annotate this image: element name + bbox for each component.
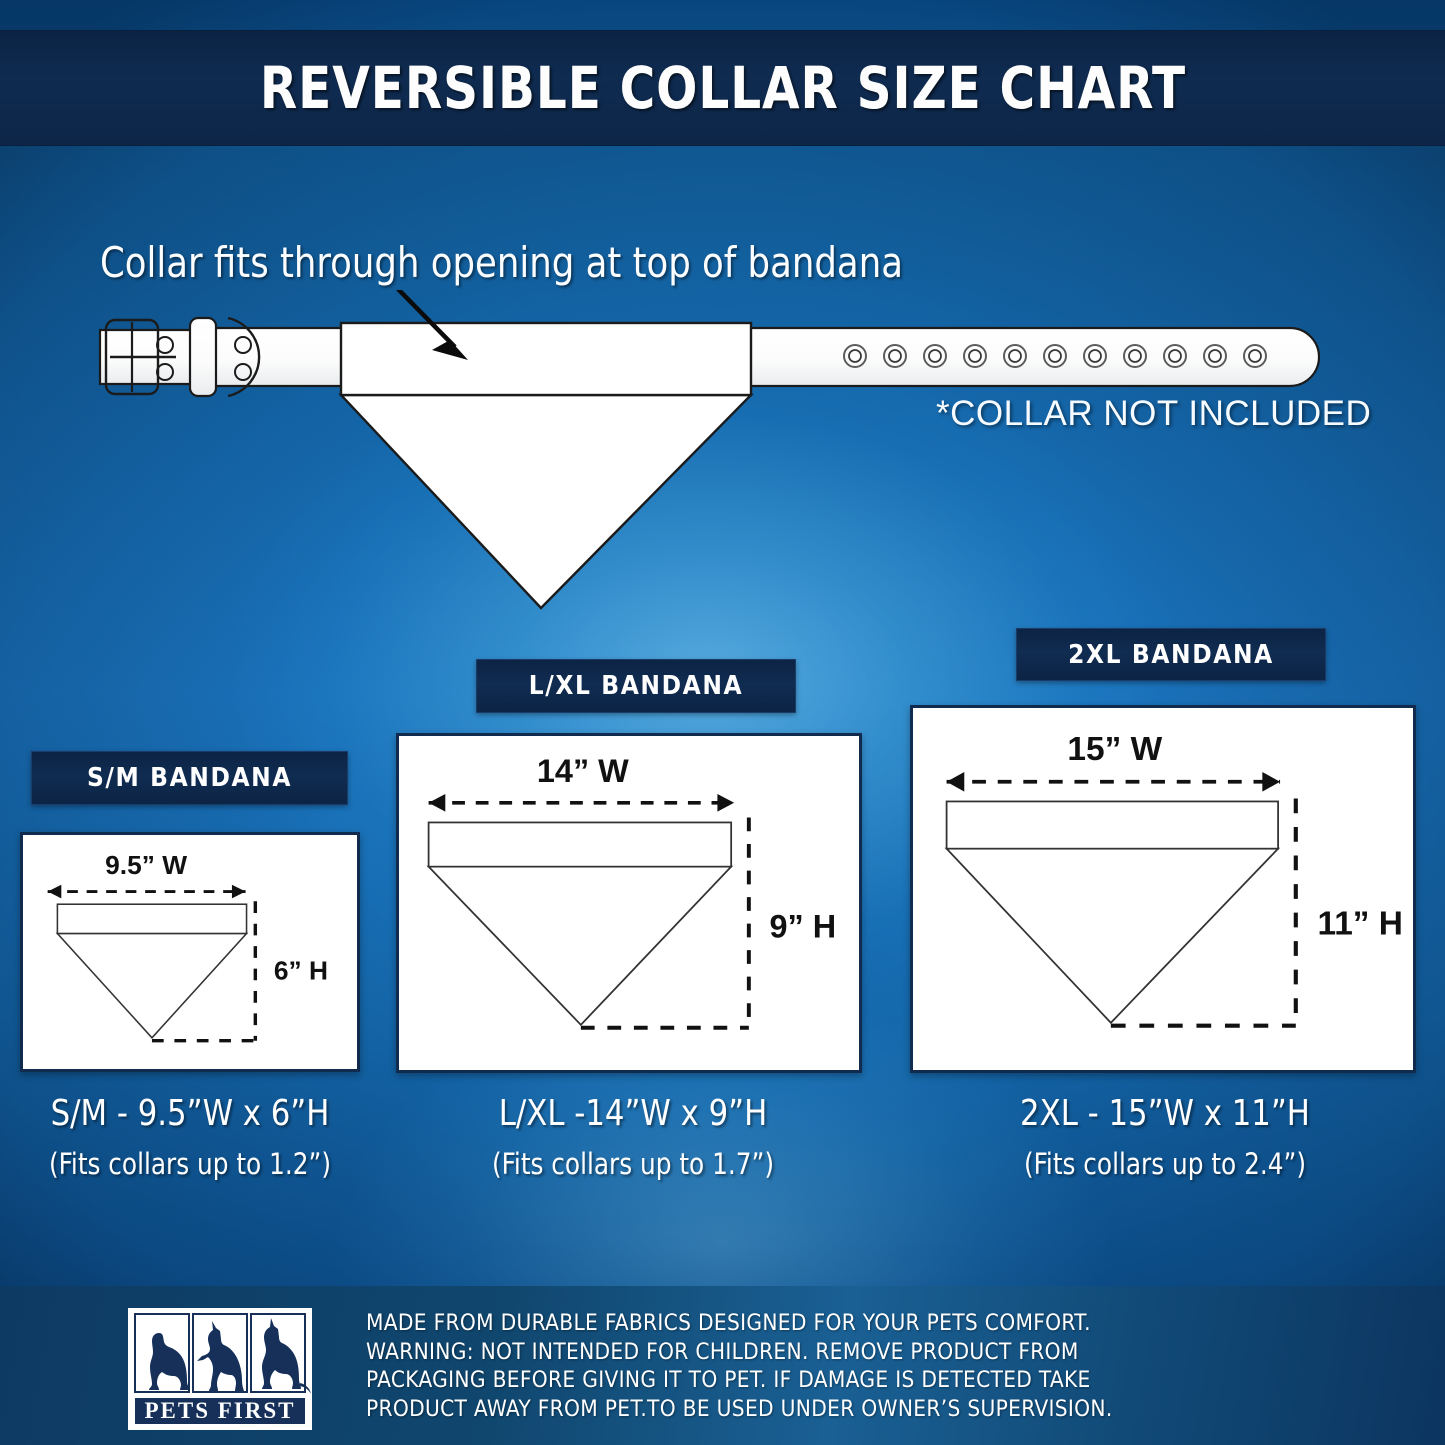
caption-lxl-title: L/XL -14”W x 9”H bbox=[457, 1093, 809, 1134]
bandana-sleeve bbox=[341, 323, 751, 395]
caption-sm-title: S/M - 9.5”W x 6”H bbox=[19, 1093, 361, 1134]
bandana-shape-xxl bbox=[947, 849, 1279, 1023]
caption-xxl-sub: (Fits collars up to 2.4”) bbox=[985, 1147, 1346, 1181]
bandana-sleeve-lxl bbox=[429, 822, 732, 866]
card-xxl: 15” W 11” H bbox=[910, 705, 1416, 1073]
diagram-lxl: 14” W 9” H bbox=[399, 736, 859, 1070]
collar-opening-note: Collar fits through opening at top of ba… bbox=[100, 238, 903, 287]
footer-line-4: PRODUCT AWAY FROM PET.TO BE USED UNDER O… bbox=[366, 1395, 1366, 1424]
caption-xxl: 2XL - 15”W x 11”H (Fits collars up to 2.… bbox=[975, 1093, 1355, 1181]
header-band: REVERSIBLE COLLAR SIZE CHART bbox=[0, 31, 1445, 145]
collar-not-included-note: *COLLAR NOT INCLUDED bbox=[936, 394, 1371, 434]
footer-line-3: PACKAGING BEFORE GIVING IT TO PET. IF DA… bbox=[366, 1366, 1366, 1395]
footer-disclaimer: MADE FROM DURABLE FABRICS DESIGNED FOR Y… bbox=[366, 1309, 1366, 1423]
badge-lxl-label: L/XL BANDANA bbox=[529, 671, 743, 701]
caption-lxl: L/XL -14”W x 9”H (Fits collars up to 1.7… bbox=[448, 1093, 818, 1181]
card-lxl: 14” W 9” H bbox=[396, 733, 862, 1073]
bandana-sleeve-sm bbox=[57, 904, 246, 933]
width-label-xxl: 15” W bbox=[1067, 731, 1162, 768]
width-label-sm: 9.5” W bbox=[105, 850, 187, 880]
bandana-triangle bbox=[341, 395, 751, 608]
page-title: REVERSIBLE COLLAR SIZE CHART bbox=[259, 54, 1185, 122]
pets-first-logo: PETS FIRST bbox=[128, 1308, 312, 1430]
badge-xxl: 2XL BANDANA bbox=[1016, 628, 1326, 681]
width-dimension-xxl bbox=[947, 772, 1280, 792]
caption-sm-sub: (Fits collars up to 1.2”) bbox=[19, 1147, 361, 1181]
caption-sm: S/M - 9.5”W x 6”H (Fits collars up to 1.… bbox=[10, 1093, 370, 1181]
height-label-lxl: 9” H bbox=[769, 908, 836, 944]
footer-line-2: WARNING: NOT INTENDED FOR CHILDREN. REMO… bbox=[366, 1338, 1366, 1367]
badge-sm-label: S/M BANDANA bbox=[87, 763, 292, 793]
logo-text: PETS FIRST bbox=[144, 1398, 295, 1423]
width-dimension-lxl bbox=[429, 794, 735, 812]
footer-line-1: MADE FROM DURABLE FABRICS DESIGNED FOR Y… bbox=[366, 1309, 1366, 1338]
badge-sm: S/M BANDANA bbox=[31, 751, 348, 805]
diagram-xxl: 15” W 11” H bbox=[913, 708, 1413, 1070]
bandana-shape-sm bbox=[57, 933, 246, 1037]
diagram-sm: 9.5” W 6” H bbox=[23, 835, 357, 1069]
buckle-keeper-loop bbox=[190, 318, 216, 396]
bandana-shape-lxl bbox=[429, 867, 732, 1025]
bandana-sleeve-xxl bbox=[947, 801, 1279, 848]
width-label-lxl: 14” W bbox=[537, 753, 629, 789]
card-sm: 9.5” W 6” H bbox=[20, 832, 360, 1072]
height-label-sm: 6” H bbox=[274, 955, 328, 985]
badge-xxl-label: 2XL BANDANA bbox=[1068, 640, 1274, 670]
width-dimension-sm bbox=[48, 885, 246, 899]
height-label-xxl: 11” H bbox=[1317, 905, 1403, 942]
badge-lxl: L/XL BANDANA bbox=[476, 659, 796, 713]
caption-lxl-sub: (Fits collars up to 1.7”) bbox=[457, 1147, 809, 1181]
collar-illustration bbox=[0, 290, 1445, 630]
caption-xxl-title: 2XL - 15”W x 11”H bbox=[985, 1093, 1346, 1134]
